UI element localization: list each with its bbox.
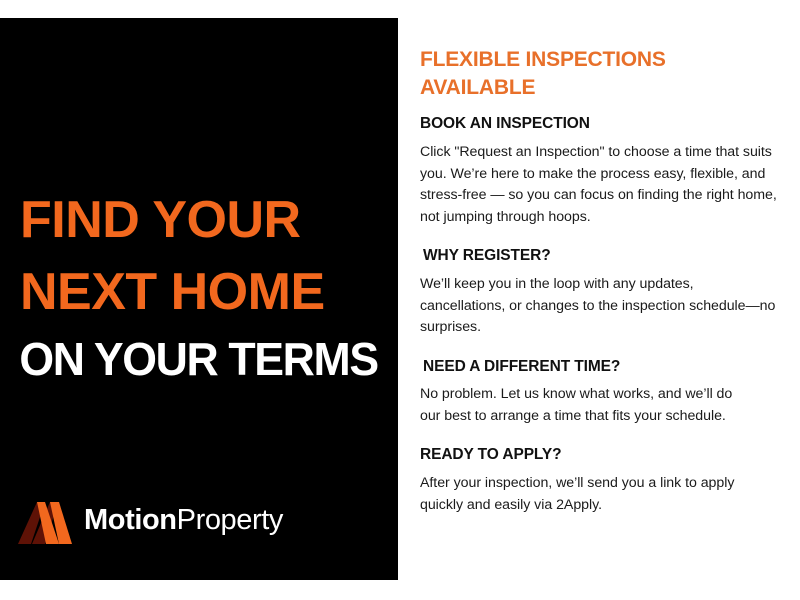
brand-logo-word-primary: Motion: [84, 504, 177, 536]
section-body-why-register: We’ll keep you in the loop with any upda…: [420, 274, 778, 339]
section-why-register: WHY REGISTER? We’ll keep you in the loop…: [418, 247, 790, 338]
promo-page: FIND YOUR NEXT HOME ON YOUR TERMS Motion…: [0, 0, 800, 600]
hero-headline-line-2: NEXT HOME: [0, 266, 398, 318]
section-heading-book-an-inspection: BOOK AN INSPECTION: [420, 115, 790, 134]
hero-headline: FIND YOUR NEXT HOME ON YOUR TERMS: [0, 194, 398, 382]
section-ready-to-apply: READY TO APPLY? After your inspection, w…: [418, 446, 790, 516]
section-heading-why-register: WHY REGISTER?: [423, 247, 790, 266]
hero-panel: FIND YOUR NEXT HOME ON YOUR TERMS Motion…: [0, 18, 398, 580]
section-heading-ready-to-apply: READY TO APPLY?: [420, 446, 790, 465]
hero-headline-line-1: FIND YOUR: [0, 194, 398, 246]
hero-headline-line-3: ON YOUR TERMS: [0, 336, 386, 382]
content-title: FLEXIBLE INSPECTIONS AVAILABLE: [420, 46, 720, 101]
section-body-book-an-inspection: Click "Request an Inspection" to choose …: [420, 142, 792, 228]
brand-logo: MotionProperty: [18, 496, 283, 544]
section-body-ready-to-apply: After your inspection, we’ll send you a …: [420, 473, 750, 516]
section-need-a-different-time: NEED A DIFFERENT TIME? No problem. Let u…: [418, 358, 790, 428]
section-book-an-inspection: BOOK AN INSPECTION Click "Request an Ins…: [418, 115, 790, 228]
section-heading-need-a-different-time: NEED A DIFFERENT TIME?: [423, 358, 790, 377]
motion-property-m-logo-icon: [18, 496, 72, 544]
content-panel: FLEXIBLE INSPECTIONS AVAILABLE BOOK AN I…: [418, 46, 790, 535]
brand-logo-word-secondary: Property: [177, 504, 283, 536]
brand-logo-wordmark: MotionProperty: [84, 506, 283, 535]
section-body-need-a-different-time: No problem. Let us know what works, and …: [420, 384, 750, 427]
